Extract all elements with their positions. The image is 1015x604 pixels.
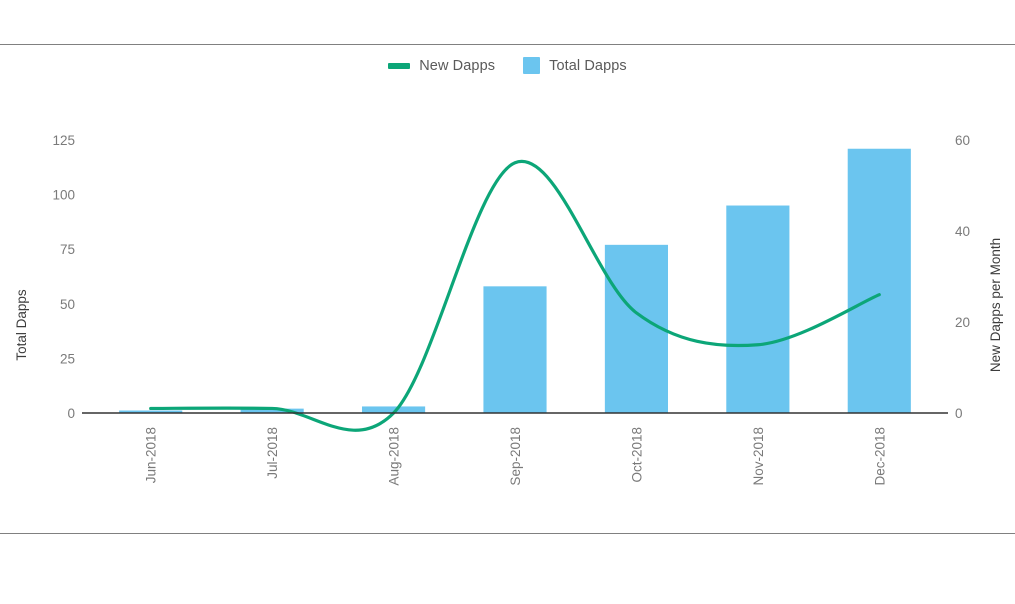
bar[interactable] bbox=[605, 245, 668, 413]
bar[interactable] bbox=[848, 149, 911, 413]
x-tick-label: Sep-2018 bbox=[508, 427, 523, 486]
left-tick-label: 25 bbox=[60, 351, 75, 366]
bottom-divider bbox=[0, 533, 1015, 534]
left-axis-ticks: 0255075100125 bbox=[52, 133, 75, 421]
left-tick-label: 0 bbox=[67, 406, 75, 421]
left-tick-label: 50 bbox=[60, 297, 75, 312]
right-axis-title: New Dapps per Month bbox=[988, 238, 1003, 372]
x-tick-label: Nov-2018 bbox=[751, 427, 766, 486]
x-tick-label: Jun-2018 bbox=[144, 427, 159, 483]
right-axis-ticks: 0204060 bbox=[955, 133, 970, 421]
left-tick-label: 100 bbox=[52, 188, 75, 203]
x-tick-label: Aug-2018 bbox=[387, 427, 402, 486]
x-axis-category-labels: Jun-2018Jul-2018Aug-2018Sep-2018Oct-2018… bbox=[144, 427, 888, 486]
left-tick-label: 75 bbox=[60, 242, 75, 257]
chart-svg: 0255075100125 0204060 Jun-2018Jul-2018Au… bbox=[0, 45, 1015, 533]
right-tick-label: 0 bbox=[955, 406, 963, 421]
chart-plot-area: 0255075100125 0204060 Jun-2018Jul-2018Au… bbox=[0, 45, 1015, 533]
chart-page: New Dapps Total Dapps 0255075100125 0204… bbox=[0, 0, 1015, 604]
right-tick-label: 20 bbox=[955, 315, 970, 330]
right-tick-label: 60 bbox=[955, 133, 970, 148]
left-tick-label: 125 bbox=[52, 133, 75, 148]
bar[interactable] bbox=[726, 206, 789, 413]
left-axis-title: Total Dapps bbox=[14, 289, 29, 361]
x-tick-label: Oct-2018 bbox=[629, 427, 644, 483]
x-tick-label: Dec-2018 bbox=[872, 427, 887, 486]
x-tick-label: Jul-2018 bbox=[265, 427, 280, 479]
right-tick-label: 40 bbox=[955, 224, 970, 239]
bar-series-total-dapps[interactable] bbox=[119, 149, 911, 413]
bar[interactable] bbox=[483, 286, 546, 413]
